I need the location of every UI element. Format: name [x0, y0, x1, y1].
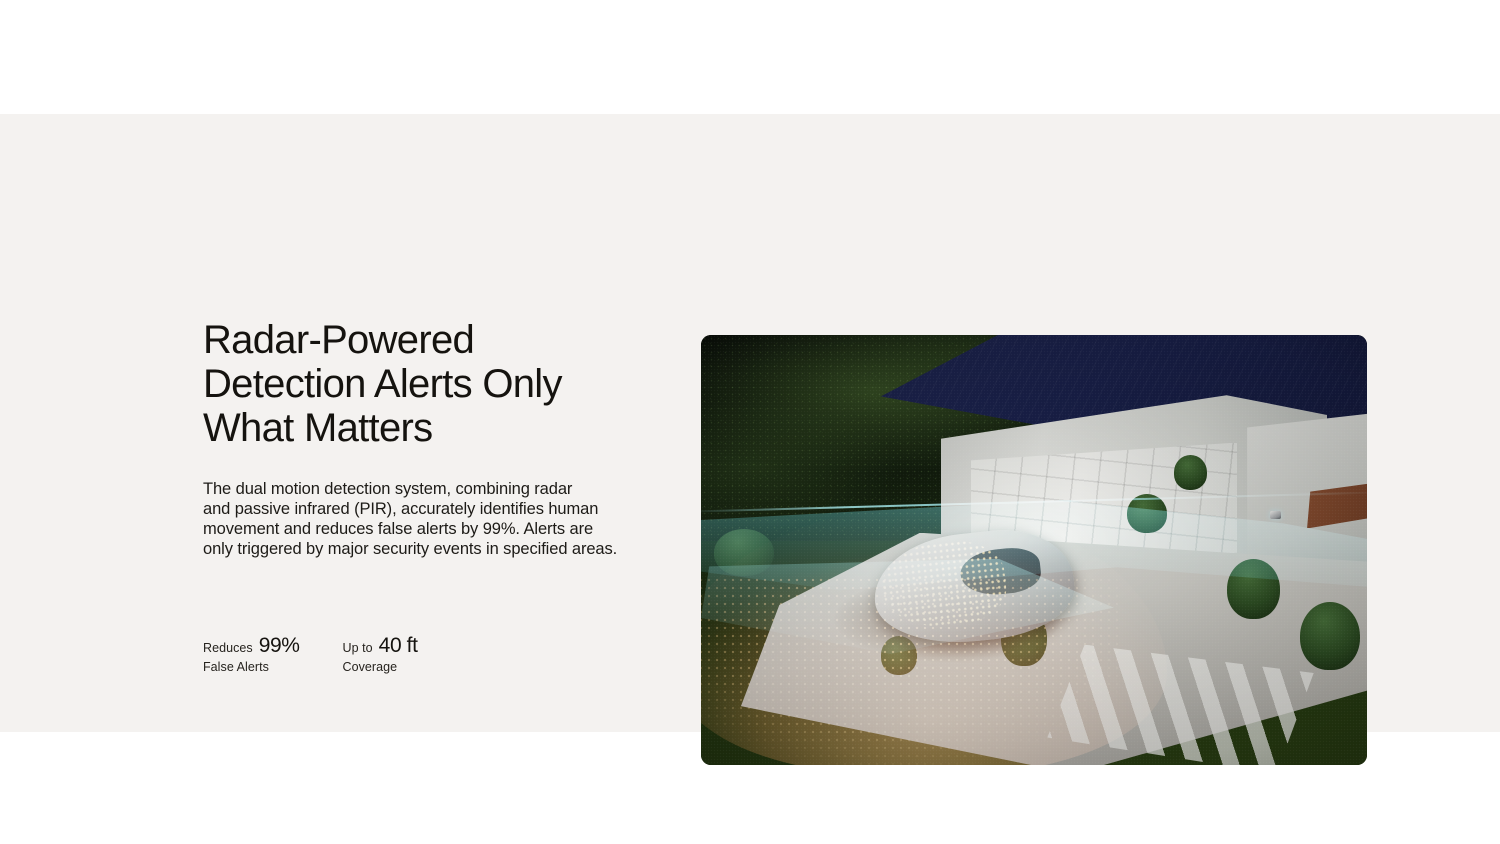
stat-caption: False Alerts — [203, 657, 300, 674]
shrub — [1300, 602, 1360, 671]
detection-scene-image — [701, 335, 1367, 765]
shrub — [1174, 455, 1207, 489]
body-paragraph: The dual motion detection system, combin… — [203, 450, 643, 559]
copy-column: Radar-Powered Detection Alerts Only What… — [203, 318, 663, 674]
feature-section: Radar-Powered Detection Alerts Only What… — [0, 114, 1500, 732]
page-title: Radar-Powered Detection Alerts Only What… — [203, 318, 663, 450]
stat-prefix: Reduces — [203, 641, 253, 655]
stat-headline: Reduces 99% — [203, 635, 300, 657]
stats-row: Reduces 99% False Alerts Up to 40 ft Cov… — [203, 559, 663, 674]
stat-value: 99% — [259, 635, 300, 657]
scene-composite — [701, 335, 1367, 765]
stat-coverage-range: Up to 40 ft Coverage — [343, 635, 418, 674]
page-root: Radar-Powered Detection Alerts Only What… — [0, 0, 1500, 844]
stat-prefix: Up to — [343, 641, 373, 655]
shrub — [1227, 559, 1280, 619]
stat-caption: Coverage — [343, 657, 418, 674]
parked-car — [869, 523, 1079, 651]
shrub — [714, 529, 774, 576]
wall-mounted-camera-icon — [1270, 511, 1281, 519]
stat-reduces-false-alerts: Reduces 99% False Alerts — [203, 635, 300, 674]
stat-headline: Up to 40 ft — [343, 635, 418, 657]
stat-value: 40 ft — [379, 635, 418, 657]
